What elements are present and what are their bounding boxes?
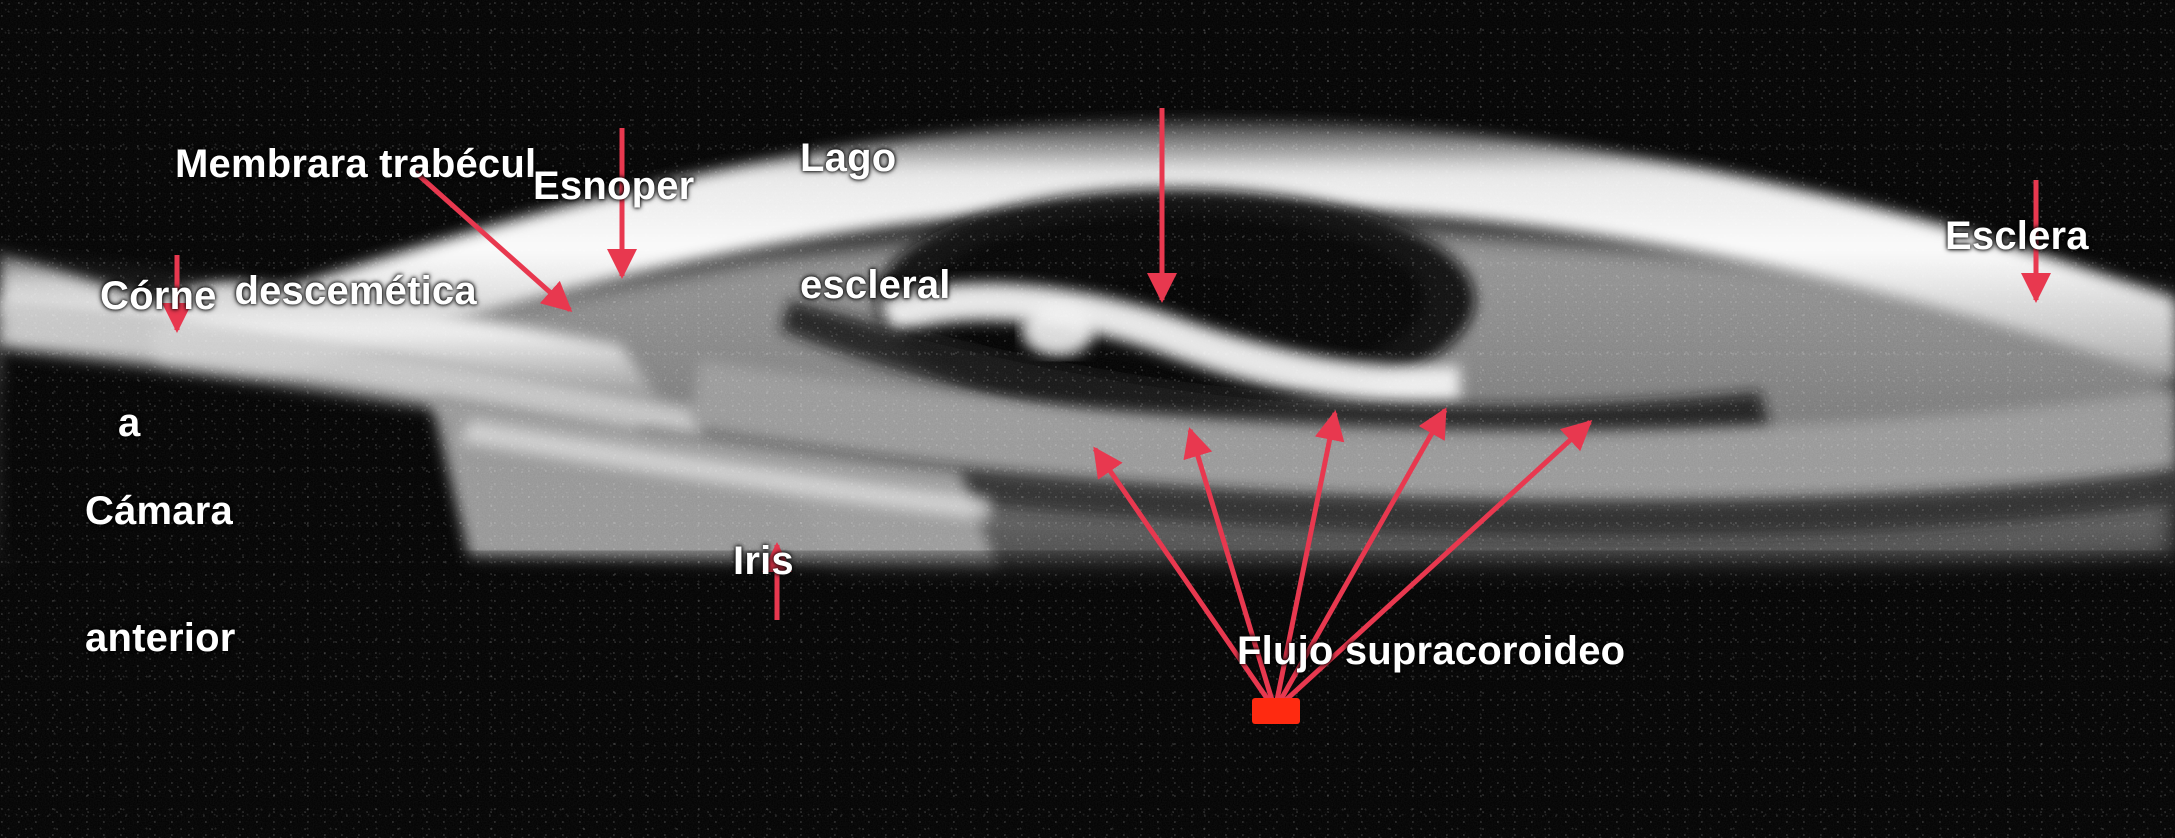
label-line-2: anterior [85,617,236,659]
label-line-2: escleral [800,264,951,306]
label-line-1: Córne [100,275,217,317]
label-line-1: Iris [733,540,794,582]
label-line-1: Lago [800,137,951,179]
label-camara-anterior: Cámara anterior [85,405,236,744]
label-line-2: descemética [175,270,536,312]
label-esnoper: Esnoper [533,80,694,292]
label-flujo-supracoroideo: Flujo supracoroideo [1237,545,1625,757]
label-line-1: Membrara trabécul [175,143,536,185]
label-line-1: Esnoper [533,165,694,207]
label-line-1: Cámara [85,490,236,532]
label-esclera: Esclera [1945,130,2089,342]
label-iris: Iris [733,455,794,667]
label-line-1: Flujo supracoroideo [1237,630,1625,672]
label-lago-escleral: Lago escleral [800,52,951,391]
label-line-1: Esclera [1945,215,2089,257]
ubm-annotated-figure: Membrara trabécul descemética Esnoper La… [0,0,2175,838]
label-membrana-trabeculo-descemetica: Membrara trabécul descemética [175,58,536,397]
